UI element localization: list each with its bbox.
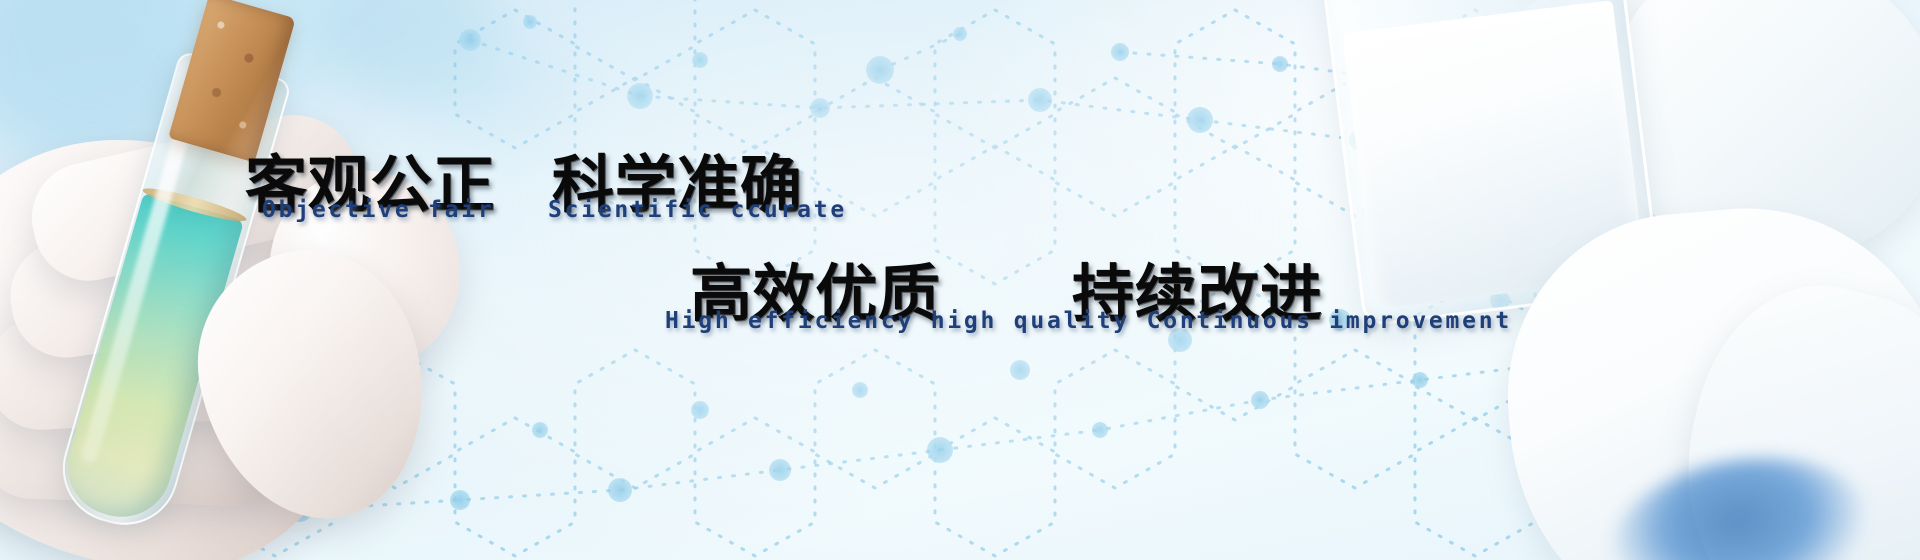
slogan-objective-fair-en: Objective fair	[262, 197, 495, 223]
beaker-and-lab-coat-image	[1310, 0, 1920, 560]
lab-quality-banner: 客观公正 Objective fair 科学准确 Scientific ccur…	[0, 0, 1920, 560]
bottom-subtitle-en: High efficiency high quality Continuous …	[665, 308, 1512, 334]
gloved-hand-with-test-tube-image	[0, 20, 590, 560]
slogan-scientific-accurate-en: Scientific ccurate	[548, 197, 847, 223]
